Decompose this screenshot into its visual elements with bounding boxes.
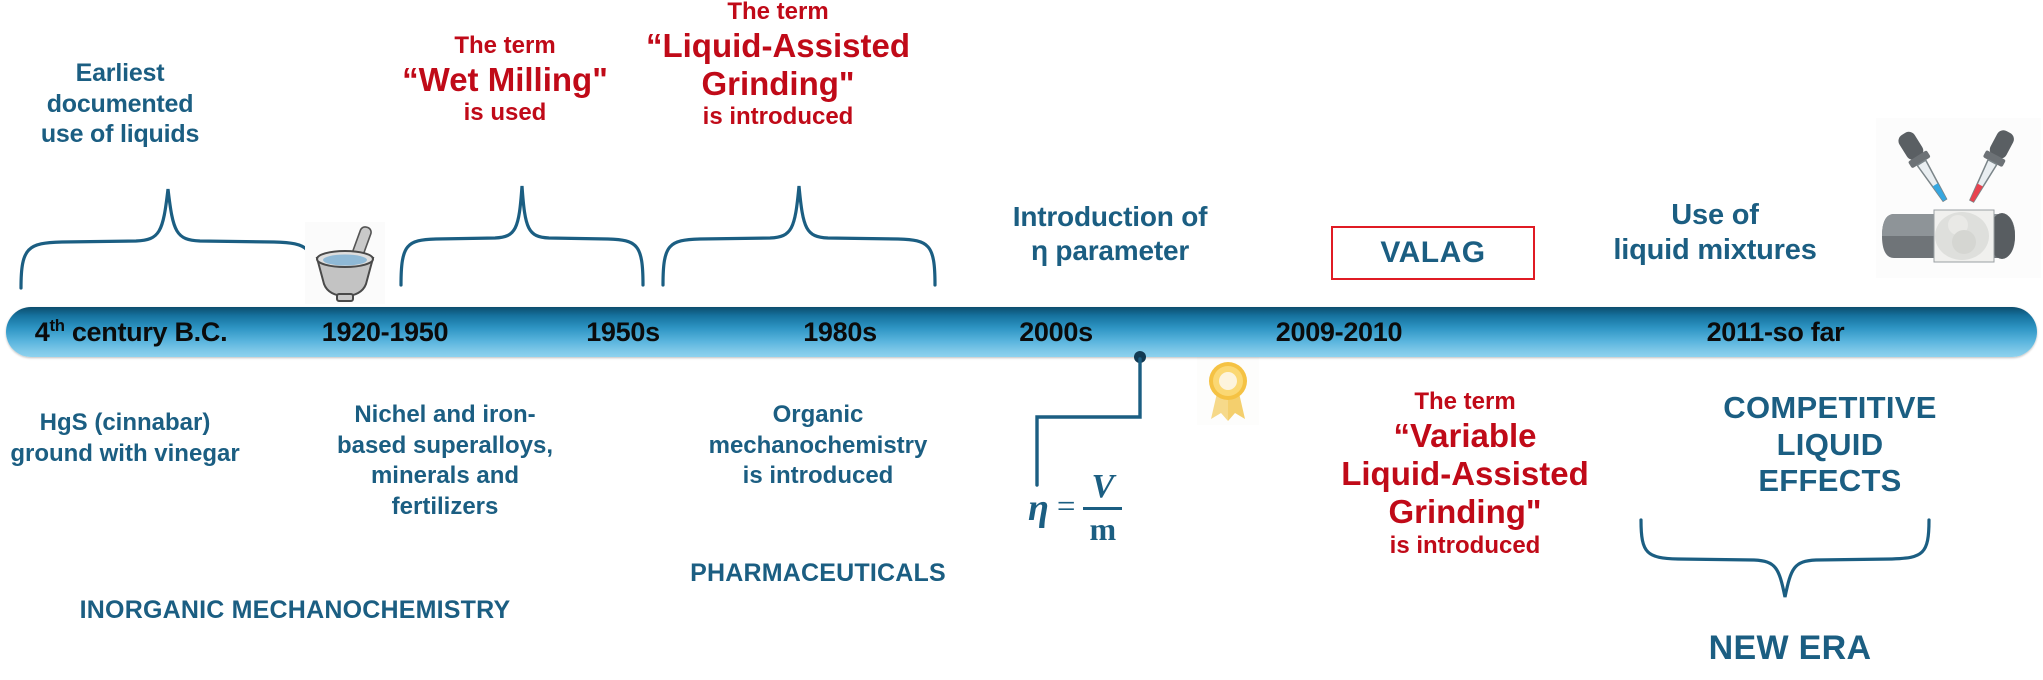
superalloys-line2: based superalloys, (325, 431, 565, 462)
timeline-era-6-label: 2011-so far (1707, 317, 1845, 348)
valag-label: VALAG (1380, 236, 1485, 270)
timeline-era-1-label: 1920-1950 (322, 317, 448, 348)
eta-denominator: m (1083, 513, 1122, 545)
lag-line1: The term (618, 0, 938, 27)
award-ribbon-icon (1197, 355, 1259, 425)
timeline-era-0[interactable]: 4th century B.C. (6, 316, 256, 348)
liquid-assisted-grinding-label: The term “Liquid-Assisted Grinding" is i… (618, 0, 938, 132)
timeline-era-3[interactable]: 1980s (732, 317, 948, 348)
timeline-era-5[interactable]: 2009-2010 (1164, 317, 1514, 348)
brace-new-era (1638, 518, 1938, 600)
eta-intro-line1: Introduction of (960, 200, 1260, 234)
superalloys-line3: minerals and (325, 461, 565, 492)
cinnabar-label: HgS (cinnabar) ground with vinegar (0, 408, 250, 469)
superalloys-line1: Nichel and iron- (325, 400, 565, 431)
superalloys-line4: fertilizers (325, 492, 565, 523)
organic-mechanochemistry-label: Organic mechanochemistry is introduced (688, 400, 948, 492)
liquid-mixtures-line2: liquid mixtures (1560, 233, 1870, 268)
timeline-era-4-label: 2000s (1019, 317, 1093, 348)
new-era-label: NEW ERA (1640, 628, 1940, 668)
organic-line3: is introduced (688, 461, 948, 492)
valag-term-label: The term “Variable Liquid-Assisted Grind… (1300, 388, 1630, 560)
timeline-era-2-label: 1950s (586, 317, 660, 348)
valag-term-line2: “Variable (1300, 417, 1630, 455)
pharmaceuticals-caption: PHARMACEUTICALS (668, 558, 968, 588)
eta-symbol: η (1028, 486, 1049, 530)
cinnabar-line2: ground with vinegar (0, 439, 250, 470)
eta-equals: = (1057, 489, 1076, 526)
superalloys-label: Nichel and iron- based superalloys, mine… (325, 400, 565, 523)
valag-term-line3: Liquid-Assisted (1300, 455, 1630, 493)
valag-term-line4: Grinding" (1300, 493, 1630, 531)
lag-line3: Grinding" (618, 65, 938, 103)
eta-formula: η = V m (1028, 470, 1122, 545)
earliest-use-label: Earliest documented use of liquids (0, 58, 240, 150)
competitive-line1: COMPETITIVE (1640, 390, 2020, 427)
lag-line2: “Liquid-Assisted (618, 27, 938, 65)
cinnabar-line1: HgS (cinnabar) (0, 408, 250, 439)
competitive-liquid-effects-label: COMPETITIVE LIQUID EFFECTS (1640, 390, 2020, 500)
timeline-era-5-label: 2009-2010 (1276, 317, 1402, 348)
eta-intro-line2: η parameter (960, 234, 1260, 268)
timeline-era-1[interactable]: 1920-1950 (256, 317, 514, 348)
timeline-era-6[interactable]: 2011-so far (1514, 317, 2037, 348)
timeline-era-4[interactable]: 2000s (948, 317, 1164, 348)
timeline-era-3-label: 1980s (803, 317, 877, 348)
wet-milling-label: The term “Wet Milling" is used (385, 32, 625, 128)
competitive-line2: LIQUID (1640, 427, 2020, 464)
eta-fraction-bar (1083, 507, 1122, 510)
liquid-mixtures-label: Use of liquid mixtures (1560, 198, 1870, 269)
valag-box: VALAG (1331, 226, 1535, 280)
wet-milling-line2: “Wet Milling" (385, 61, 625, 99)
valag-term-line1: The term (1300, 388, 1630, 417)
competitive-line3: EFFECTS (1640, 463, 2020, 500)
organic-line1: Organic (688, 400, 948, 431)
milling-jar-with-pipettes-icon (1876, 118, 2041, 278)
mortar-and-pestle-icon (305, 222, 385, 304)
earliest-use-line1: Earliest documented (0, 58, 240, 119)
brace-earliest-use (18, 185, 318, 290)
valag-term-line5: is introduced (1300, 532, 1630, 561)
inorganic-mechanochemistry-caption: INORGANIC MECHANOCHEMISTRY (30, 595, 560, 625)
wet-milling-line3: is used (385, 99, 625, 128)
wet-milling-line1: The term (385, 32, 625, 61)
timeline-era-2[interactable]: 1950s (514, 317, 732, 348)
brace-wet-milling (398, 182, 646, 287)
organic-line2: mechanochemistry (688, 431, 948, 462)
timeline-era-0-label: 4th century B.C. (35, 316, 228, 348)
brace-liquid-assisted-grinding (660, 182, 938, 287)
liquid-mixtures-line1: Use of (1560, 198, 1870, 233)
lag-line4: is introduced (618, 103, 938, 132)
eta-fraction: V m (1083, 470, 1122, 545)
eta-parameter-intro-label: Introduction of η parameter (960, 200, 1260, 268)
earliest-use-line2: use of liquids (0, 119, 240, 150)
eta-numerator: V (1085, 470, 1120, 504)
